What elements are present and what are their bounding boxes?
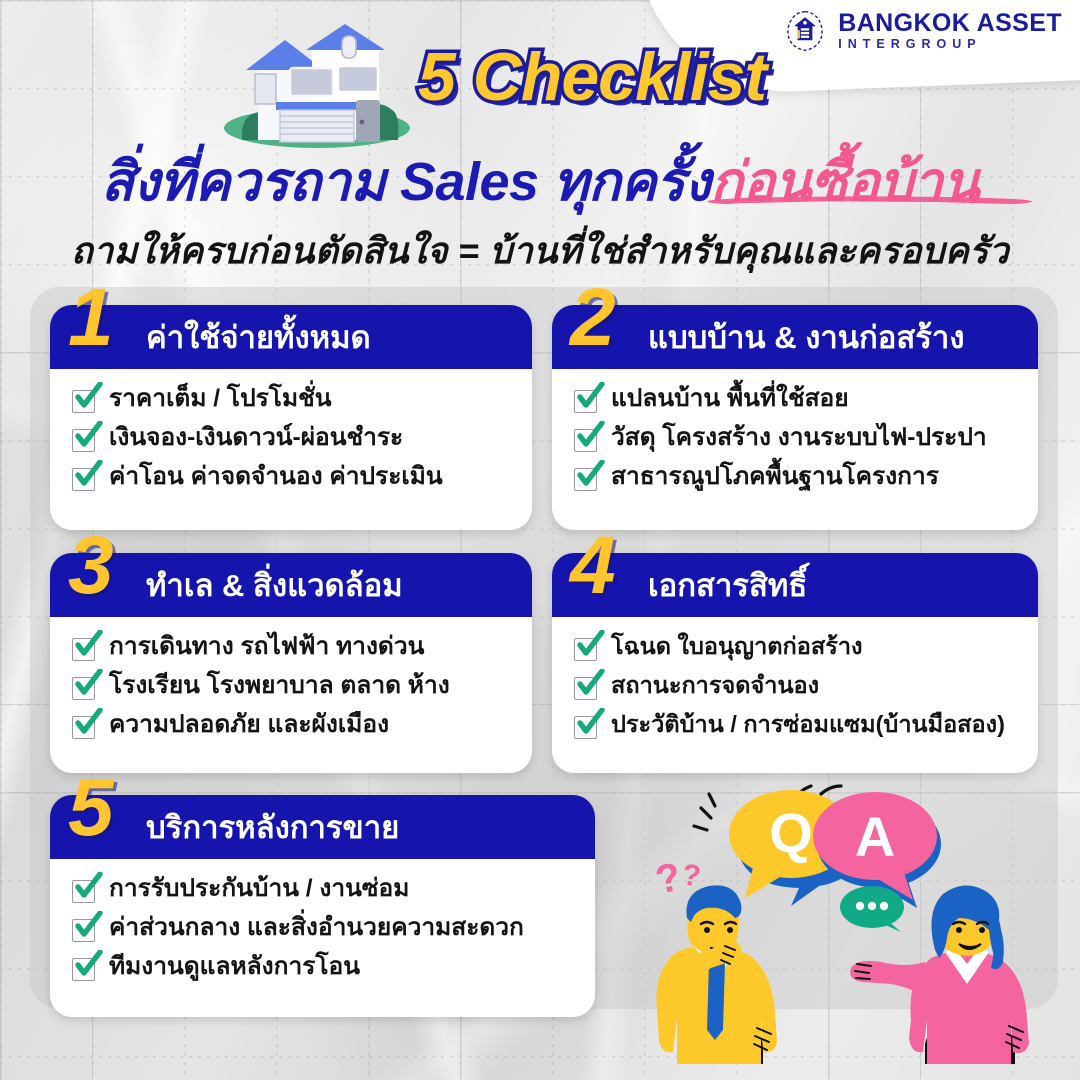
brand-name: BANGKOK ASSET — [838, 11, 1062, 36]
checkbox-checked-icon — [574, 675, 600, 701]
list-item: ค่าโอน ค่าจดจำนอง ค่าประเมิน — [72, 463, 532, 492]
card-number: 1 — [68, 277, 114, 359]
checklist-card-5[interactable]: 5 บริการหลังการขาย การรับประกันบ้าน / งา… — [50, 795, 595, 1017]
checkbox-checked-icon — [72, 714, 98, 740]
card-number: 5 — [68, 767, 114, 849]
checkbox-checked-icon — [72, 466, 98, 492]
list-item: การรับประกันบ้าน / งานซ่อม — [72, 875, 595, 904]
card-title: แบบบ้าน & งานก่อสร้าง — [648, 312, 964, 362]
ellipsis-speech-bubble-icon — [840, 886, 904, 932]
motion-lines-icon — [694, 794, 715, 830]
list-item-label: สถานะการจดจำนอง — [611, 672, 819, 700]
list-item: การเดินทาง รถไฟฟ้า ทางด่วน — [72, 633, 532, 662]
card-header: 4 เอกสารสิทธิ์ — [552, 553, 1038, 617]
svg-text:?: ? — [680, 858, 703, 893]
list-item-label: เงินจอง-เงินดาวน์-ผ่อนชำระ — [109, 424, 403, 453]
card-number: 3 — [68, 525, 114, 607]
checklist-card-2[interactable]: 2 แบบบ้าน & งานก่อสร้าง แปลนบ้าน พื้นที่… — [552, 305, 1038, 530]
checkbox-checked-icon — [72, 917, 98, 943]
card-title: ค่าใช้จ่ายทั้งหมด — [146, 312, 371, 362]
card-header: 3 ทำเล & สิ่งแวดล้อม — [50, 553, 532, 617]
list-item: เงินจอง-เงินดาวน์-ผ่อนชำระ — [72, 424, 532, 453]
card-body: ราคาเต็ม / โปรโมชั่น เงินจอง-เงินดาวน์-ผ… — [50, 369, 532, 510]
checklist-card-3[interactable]: 3 ทำเล & สิ่งแวดล้อม การเดินทาง รถไฟฟ้า … — [50, 553, 532, 773]
headline-main: สิ่งที่ควรถาม Sales ทุกครั้ง — [101, 152, 710, 212]
checkbox-checked-icon — [574, 388, 600, 414]
card-number: 2 — [570, 277, 616, 359]
checkbox-checked-icon — [574, 636, 600, 662]
list-item: ประวัติบ้าน / การซ่อมแซม(บ้านมือสอง) — [574, 711, 1038, 740]
list-item-label: โฉนด ใบอนุญาตก่อสร้าง — [611, 633, 863, 661]
card-body: การเดินทาง รถไฟฟ้า ทางด่วน โรงเรียน โรงพ… — [50, 617, 532, 758]
thinking-man-icon — [656, 885, 777, 1064]
list-item: วัสดุ โครงสร้าง งานระบบไฟ-ประปา — [574, 424, 1038, 453]
list-item-label: ความปลอดภัย และผังเมือง — [109, 711, 389, 740]
checkbox-checked-icon — [72, 636, 98, 662]
checklist-card-1[interactable]: 1 ค่าใช้จ่ายทั้งหมด ราคาเต็ม / โปรโมชั่น… — [50, 305, 532, 530]
list-item-label: ค่าส่วนกลาง และสิ่งอำนวยความสะดวก — [109, 914, 524, 943]
list-item-label: การรับประกันบ้าน / งานซ่อม — [109, 875, 409, 904]
card-number: 4 — [570, 525, 616, 607]
checkbox-checked-icon — [72, 675, 98, 701]
list-item: ความปลอดภัย และผังเมือง — [72, 711, 532, 740]
list-item: ราคาเต็ม / โปรโมชั่น — [72, 385, 532, 414]
list-item: ค่าส่วนกลาง และสิ่งอำนวยความสะดวก — [72, 914, 595, 943]
list-item: โรงเรียน โรงพยาบาล ตลาด ห้าง — [72, 672, 532, 701]
card-body: แปลนบ้าน พื้นที่ใช้สอย วัสดุ โครงสร้าง ง… — [552, 369, 1038, 510]
list-item: สถานะการจดจำนอง — [574, 672, 1038, 701]
qa-people-illustration: ? ? Q A — [625, 772, 1080, 1080]
list-item-label: โรงเรียน โรงพยาบาล ตลาด ห้าง — [109, 672, 450, 701]
subheadline: ถามให้ครบก่อนตัดสินใจ = บ้านที่ใช่สำหรับ… — [0, 222, 1080, 279]
list-item-label: แปลนบ้าน พื้นที่ใช้สอย — [611, 385, 849, 414]
card-title: ทำเล & สิ่งแวดล้อม — [146, 560, 403, 610]
card-title: บริการหลังการขาย — [146, 802, 399, 852]
list-item-label: การเดินทาง รถไฟฟ้า ทางด่วน — [109, 633, 424, 662]
card-body: โฉนด ใบอนุญาตก่อสร้าง สถานะการจดจำนอง ปร… — [552, 617, 1038, 758]
checkbox-checked-icon — [574, 466, 600, 492]
checkbox-checked-icon — [574, 714, 600, 740]
card-header: 2 แบบบ้าน & งานก่อสร้าง — [552, 305, 1038, 369]
list-item-label: วัสดุ โครงสร้าง งานระบบไฟ-ประปา — [611, 424, 987, 453]
list-item: แปลนบ้าน พื้นที่ใช้สอย — [574, 385, 1038, 414]
list-item-label: ราคาเต็ม / โปรโมชั่น — [109, 385, 331, 414]
list-item-label: ทีมงานดูแลหลังการโอน — [109, 953, 360, 982]
brand-tagline: INTERGROUP — [838, 38, 1062, 51]
checkbox-checked-icon — [574, 427, 600, 453]
house-illustration-icon — [214, 22, 419, 150]
page-title: สิ่งที่ควรถาม Sales ทุกครั้งก่อนซื้อบ้าน — [0, 138, 1080, 224]
checkbox-checked-icon — [72, 878, 98, 904]
list-item-label: ค่าโอน ค่าจดจำนอง ค่าประเมิน — [109, 463, 443, 492]
infographic-canvas: BANGKOK ASSET INTERGROUP 5 — [0, 0, 1080, 1080]
list-item: สาธารณูปโภคพื้นฐานโครงการ — [574, 463, 1038, 492]
list-item: โฉนด ใบอนุญาตก่อสร้าง — [574, 633, 1038, 662]
card-title: เอกสารสิทธิ์ — [648, 560, 807, 610]
bubble-q-label: Q — [769, 801, 813, 864]
wreath-house-logo-icon — [782, 8, 828, 54]
svg-text:?: ? — [652, 855, 685, 903]
checklist-card-4[interactable]: 4 เอกสารสิทธิ์ โฉนด ใบอนุญาตก่อสร้าง สถา… — [552, 553, 1038, 773]
card-header: 1 ค่าใช้จ่ายทั้งหมด — [50, 305, 532, 369]
list-item-label: สาธารณูปโภคพื้นฐานโครงการ — [611, 463, 939, 492]
eyebrow-title: 5 Checklist — [418, 38, 766, 116]
checkbox-checked-icon — [72, 427, 98, 453]
bubble-a-label: A — [855, 805, 895, 868]
checkbox-checked-icon — [72, 388, 98, 414]
checkbox-checked-icon — [72, 956, 98, 982]
list-item: ทีมงานดูแลหลังการโอน — [72, 953, 595, 982]
brand-logo: BANGKOK ASSET INTERGROUP — [782, 8, 1062, 54]
card-body: การรับประกันบ้าน / งานซ่อม ค่าส่วนกลาง แ… — [50, 859, 595, 1000]
card-header: 5 บริการหลังการขาย — [50, 795, 595, 859]
list-item-label: ประวัติบ้าน / การซ่อมแซม(บ้านมือสอง) — [611, 711, 1005, 739]
